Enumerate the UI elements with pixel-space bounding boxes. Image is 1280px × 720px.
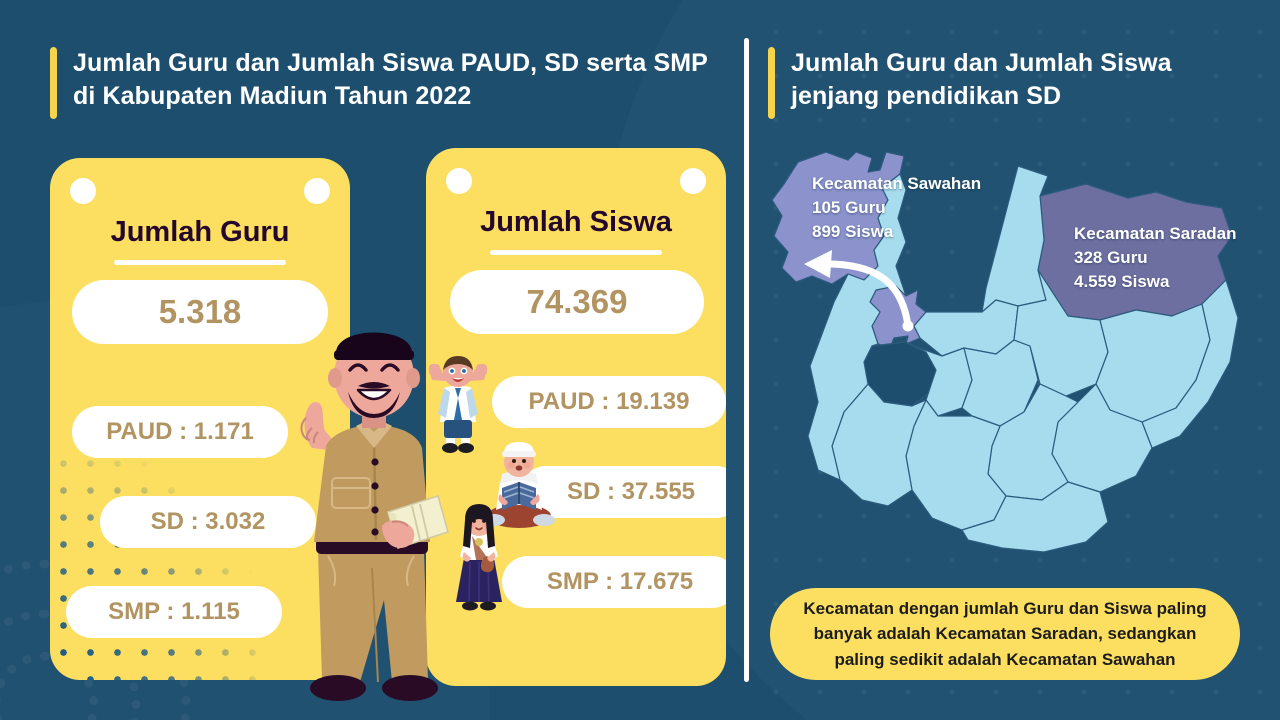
left-panel-title: Jumlah Guru dan Jumlah Siswa PAUD, SD se… — [50, 47, 730, 119]
punch-hole-left-icon — [70, 178, 96, 204]
title-accent-bar — [50, 47, 57, 119]
card-siswa-paud-value: PAUD : 19.139 — [492, 376, 726, 428]
card-dot-decoration — [50, 450, 260, 680]
girl-student-illustration — [448, 502, 510, 614]
map-label-sawahan-teachers: 105 Guru — [812, 196, 981, 220]
panel-divider — [744, 38, 749, 682]
map-label-saradan-students: 4.559 Siswa — [1074, 270, 1237, 294]
right-panel-title-text: Jumlah Guru dan Jumlah Siswa jenjang pen… — [791, 47, 1238, 119]
punch-hole-right-icon — [304, 178, 330, 204]
map-label-sawahan-district: Kecamatan Sawahan — [812, 172, 981, 196]
map-region-north-central — [982, 166, 1048, 312]
arrow-origin-dot-icon — [903, 321, 914, 332]
card-heading-rule — [490, 250, 662, 255]
summary-note: Kecamatan dengan jumlah Guru dan Siswa p… — [770, 588, 1240, 680]
map-label-saradan-teachers: 328 Guru — [1074, 246, 1237, 270]
map-label-sawahan: Kecamatan Sawahan 105 Guru 899 Siswa — [812, 172, 981, 244]
card-siswa-smp-value: SMP : 17.675 — [502, 556, 726, 608]
card-siswa-heading: Jumlah Siswa — [426, 206, 726, 239]
title-accent-bar — [768, 47, 775, 119]
right-panel-title: Jumlah Guru dan Jumlah Siswa jenjang pen… — [768, 47, 1238, 119]
punch-hole-right-icon — [680, 168, 706, 194]
infographic-canvas: Jumlah Guru dan Jumlah Siswa PAUD, SD se… — [0, 0, 1280, 720]
map-label-sawahan-students: 899 Siswa — [812, 220, 981, 244]
left-panel-title-text: Jumlah Guru dan Jumlah Siswa PAUD, SD se… — [73, 47, 730, 119]
map-region-north-west — [914, 300, 1018, 356]
punch-hole-left-icon — [446, 168, 472, 194]
card-guru-heading: Jumlah Guru — [50, 216, 350, 249]
card-guru-smp-value: SMP : 1.115 — [66, 586, 282, 638]
map-label-saradan: Kecamatan Saradan 328 Guru 4.559 Siswa — [1074, 222, 1237, 294]
map-label-saradan-district: Kecamatan Saradan — [1074, 222, 1237, 246]
card-heading-rule — [114, 260, 286, 265]
